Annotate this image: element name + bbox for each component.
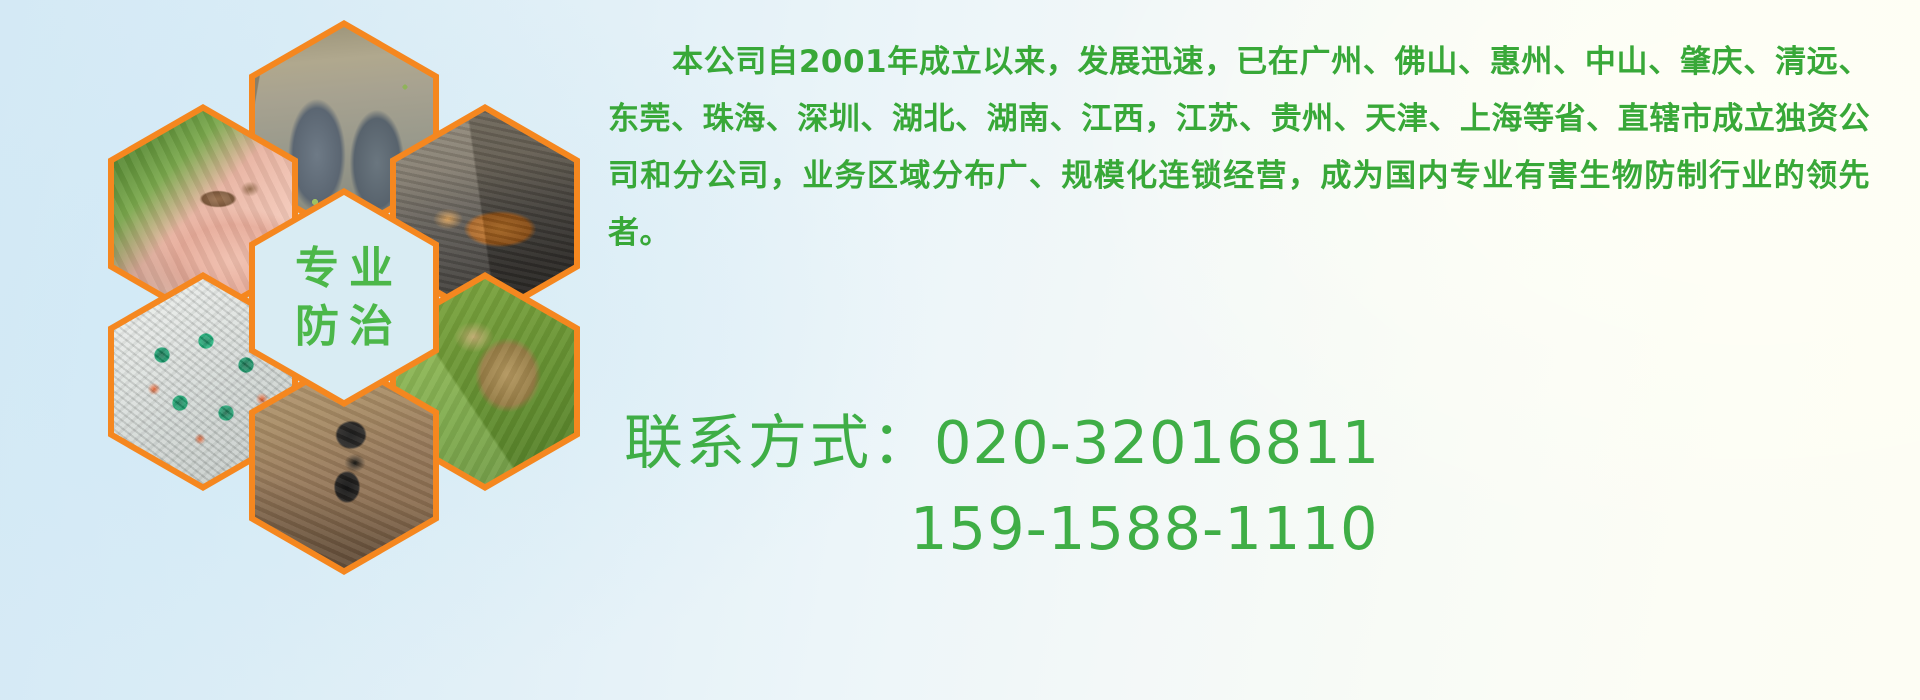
- phone-primary[interactable]: 020-32016811: [934, 408, 1380, 477]
- slogan-line-2: 防治: [285, 305, 403, 349]
- slogan-line-1: 专业: [285, 247, 403, 291]
- company-intro-paragraph: 本公司自2001年成立以来，发展迅速，已在广州、佛山、惠州、中山、肇庆、清远、东…: [608, 34, 1870, 262]
- contact-block: 联系方式：020-32016811 159-1588-1110: [624, 400, 1894, 572]
- contact-line-primary: 联系方式：020-32016811: [624, 400, 1894, 486]
- phone-secondary[interactable]: 159-1588-1110: [910, 494, 1379, 563]
- honeycomb-cluster: 专业 防治: [86, 8, 586, 553]
- company-intro-block: 本公司自2001年成立以来，发展迅速，已在广州、佛山、惠州、中山、肇庆、清远、东…: [608, 34, 1870, 262]
- contact-label: 联系方式：: [624, 408, 934, 477]
- promo-banner: 专业 防治 本公司自2001年成立以来，发展迅速，已在广州、佛山、惠州、中山、肇…: [0, 0, 1920, 700]
- slogan-block: 专业 防治: [255, 195, 433, 400]
- contact-line-secondary: 159-1588-1110: [624, 486, 1894, 572]
- hex-inner: 专业 防治: [255, 195, 433, 400]
